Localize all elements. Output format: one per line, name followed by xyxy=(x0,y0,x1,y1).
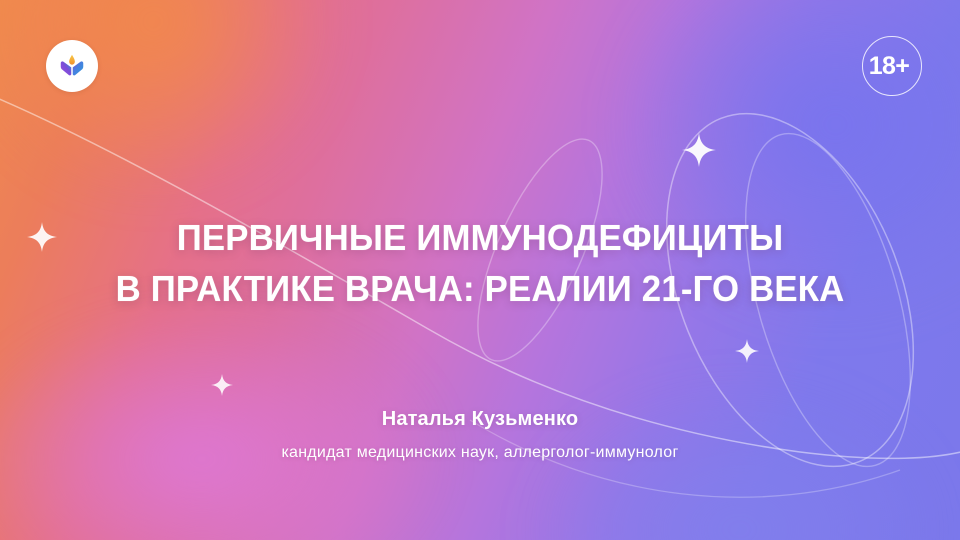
slide-title: ПЕРВИЧНЫЕ ИММУНОДЕФИЦИТЫ В ПРАКТИКЕ ВРАЧ… xyxy=(0,212,960,314)
brand-logo[interactable] xyxy=(46,40,98,92)
title-line-1: ПЕРВИЧНЫЕ ИММУНОДЕФИЦИТЫ xyxy=(55,212,904,263)
age-rating-badge: 18+ xyxy=(862,36,922,96)
speaker-role: кандидат медицинских наук, аллерголог-им… xyxy=(40,443,920,464)
leaf-sprout-logo-icon xyxy=(57,51,87,81)
age-rating-label: 18+ xyxy=(869,54,910,79)
title-line-2: В ПРАКТИКЕ ВРАЧА: РЕАЛИИ 21-ГО ВЕКА xyxy=(55,263,904,314)
speaker-name: Наталья Кузьменко xyxy=(40,406,920,432)
speaker-info: Наталья Кузьменко кандидат медицинских н… xyxy=(0,406,960,464)
presentation-slide: 18+ ПЕРВИЧНЫЕ ИММУНОДЕФИЦИТЫ В ПРАКТИКЕ … xyxy=(0,0,960,540)
